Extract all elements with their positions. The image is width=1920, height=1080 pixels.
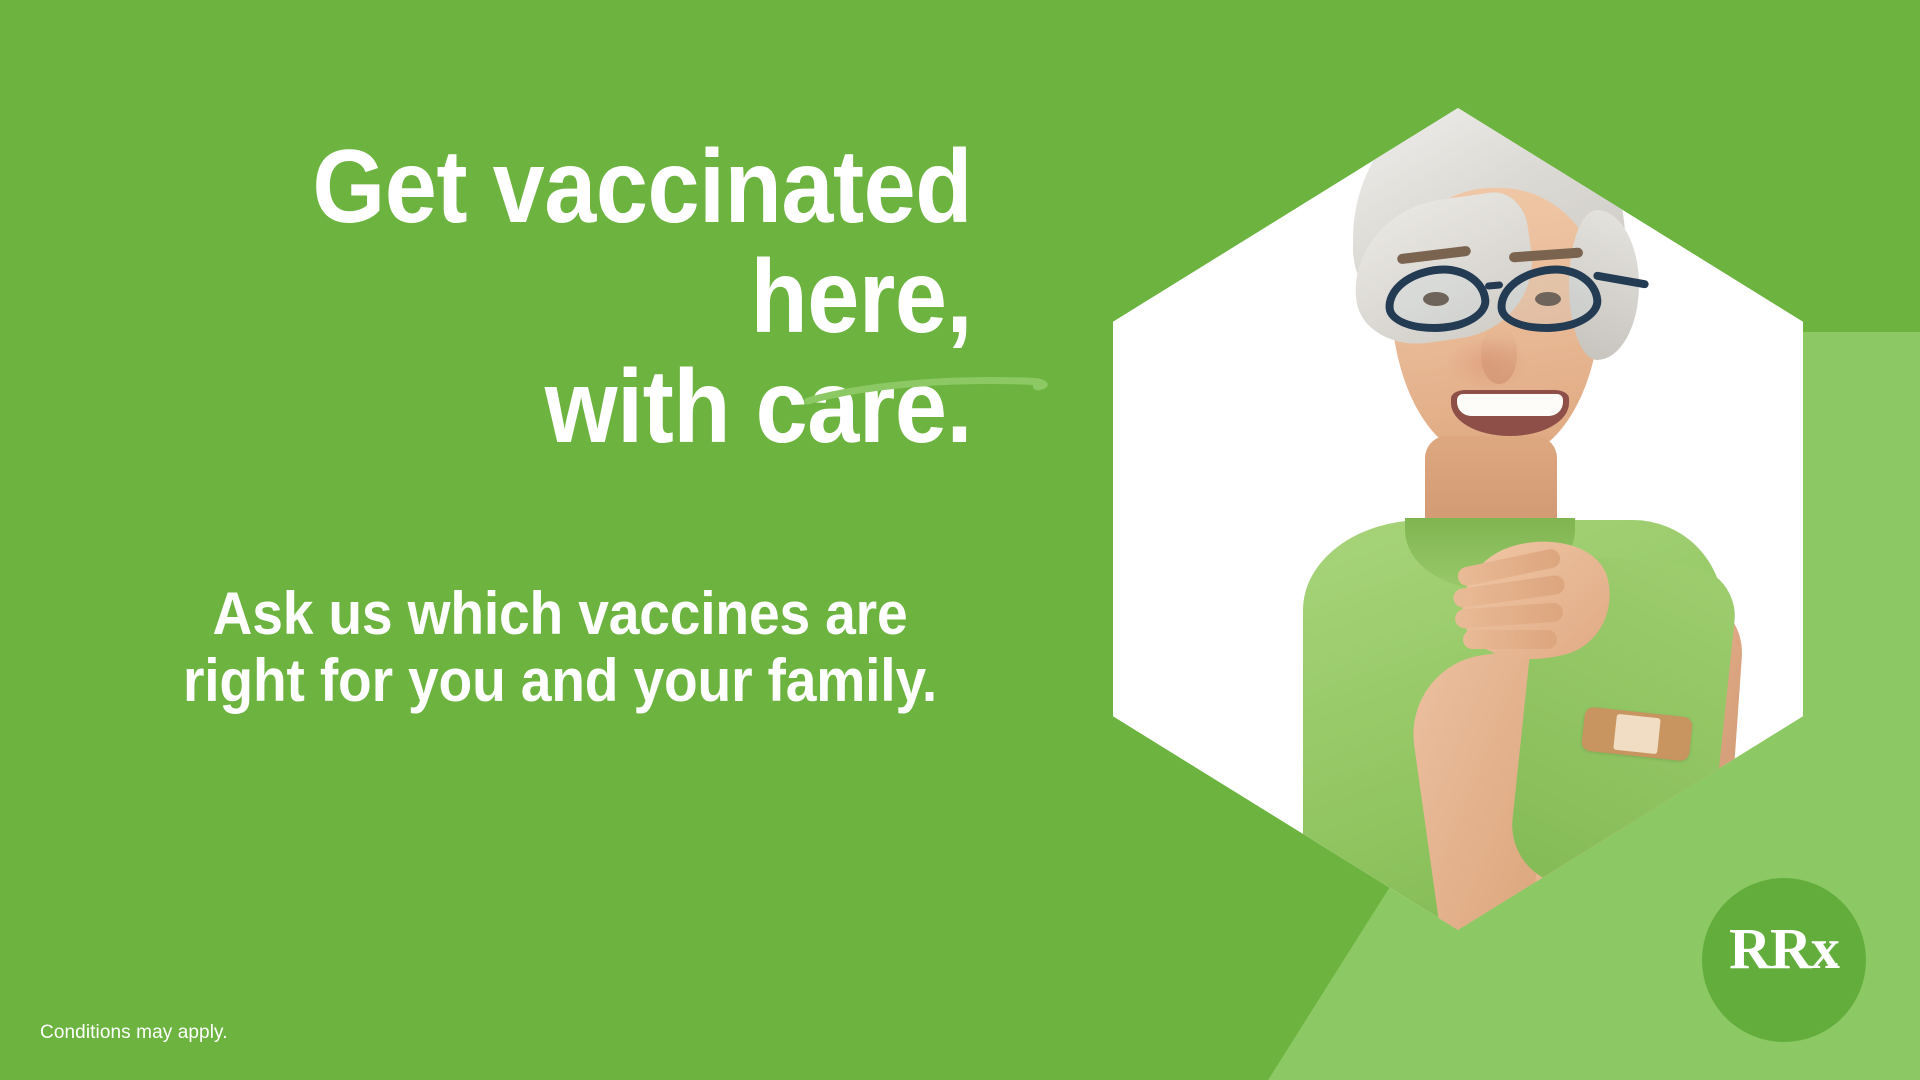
nose <box>1481 328 1517 384</box>
headline-line-2: with care. <box>90 352 972 462</box>
trademark-symbol: ™ <box>1826 960 1840 975</box>
subheading: Ask us which vaccines are right for you … <box>100 580 1020 714</box>
rrx-logo[interactable]: RRx ™ <box>1702 878 1866 1042</box>
bandage-pad <box>1613 714 1661 754</box>
teeth <box>1457 394 1563 416</box>
hexagon-photo-frame <box>1113 108 1803 930</box>
hexagon-white-shape <box>1113 108 1803 930</box>
patient-photo <box>1113 108 1803 930</box>
promo-banner: Get vaccinated here, with care. Ask us w… <box>0 0 1920 1080</box>
headline: Get vaccinated here, with care. <box>90 132 972 463</box>
subheading-line-2: right for you and your family. <box>100 647 1020 714</box>
headline-line-1: Get vaccinated here, <box>90 132 972 352</box>
subheading-line-1: Ask us which vaccines are <box>100 580 1020 647</box>
disclaimer-text: Conditions may apply. <box>40 1022 228 1044</box>
finger <box>1463 630 1557 649</box>
logo-wordmark: RRx <box>1702 920 1866 978</box>
